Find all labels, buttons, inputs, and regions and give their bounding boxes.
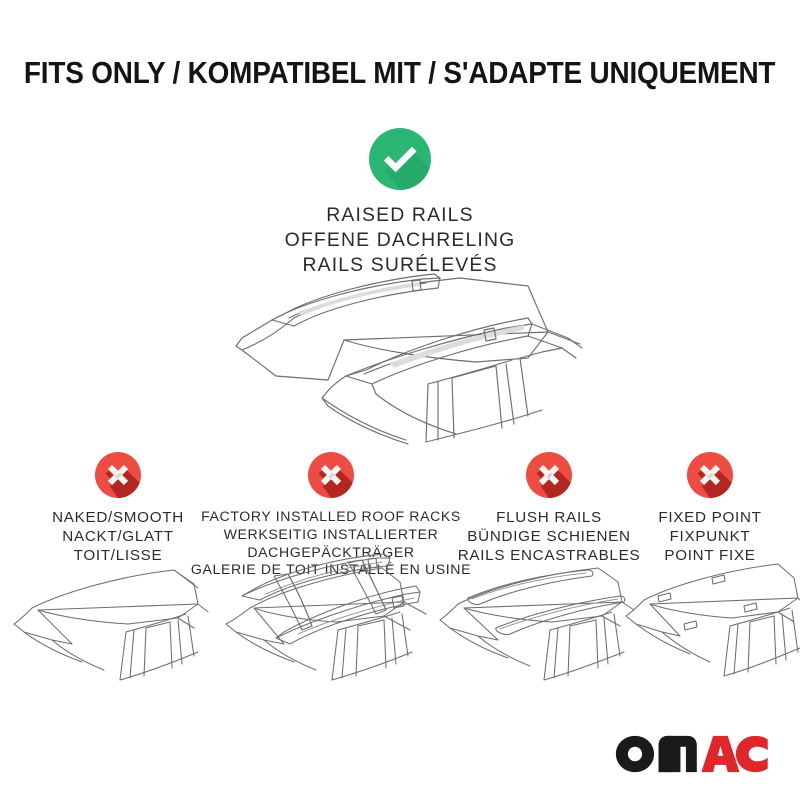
incompatible-item-naked-smooth: NAKED/SMOOTH NACKT/GLATT TOIT/LISSE	[22, 452, 214, 566]
compatible-labels: RAISED RAILS OFFENE DACHRELING RAILS SUR…	[285, 203, 516, 279]
labels-naked-smooth: NAKED/SMOOTH NACKT/GLATT TOIT/LISSE	[52, 508, 184, 566]
incompatible-item-flush-rails: FLUSH RAILS BÜNDIGE SCHIENEN RAILS ENCAS…	[455, 452, 643, 566]
x-circle-icon	[95, 452, 141, 498]
check-circle-icon	[369, 128, 431, 190]
car-roof-fixed-point-illustration	[618, 556, 800, 700]
car-roof-factory-racks-illustration	[212, 548, 436, 700]
compatible-section: RAISED RAILS OFFENE DACHRELING RAILS SUR…	[0, 128, 800, 279]
label-factory-de1: WERKSEITIG INSTALLIERTER	[191, 526, 471, 544]
label-fixed-de: FIXPUNKT	[658, 527, 761, 546]
label-flush-de: BÜNDIGE SCHIENEN	[458, 527, 641, 546]
label-naked-de: NACKT/GLATT	[52, 527, 184, 546]
car-roof-naked-illustration	[8, 560, 212, 700]
x-circle-icon	[526, 452, 572, 498]
incompatible-item-fixed-point: FIXED POINT FIXPUNKT POINT FIXE	[640, 452, 780, 566]
page-title: FITS ONLY / KOMPATIBEL MIT / S'ADAPTE UN…	[24, 56, 775, 91]
car-roof-raised-rails-illustration	[176, 272, 628, 448]
label-naked-en: NAKED/SMOOTH	[52, 508, 184, 527]
compatible-label-de: OFFENE DACHRELING	[285, 228, 516, 253]
omac-logo	[615, 734, 770, 774]
car-roof-flush-rails-illustration	[432, 556, 640, 700]
x-circle-icon	[308, 452, 354, 498]
label-fixed-en: FIXED POINT	[658, 508, 761, 527]
x-circle-icon	[687, 452, 733, 498]
label-flush-en: FLUSH RAILS	[458, 508, 641, 527]
compatible-label-en: RAISED RAILS	[285, 203, 516, 228]
label-factory-en: FACTORY INSTALLED ROOF RACKS	[191, 508, 471, 526]
title-bar: FITS ONLY / KOMPATIBEL MIT / S'ADAPTE UN…	[0, 50, 800, 96]
